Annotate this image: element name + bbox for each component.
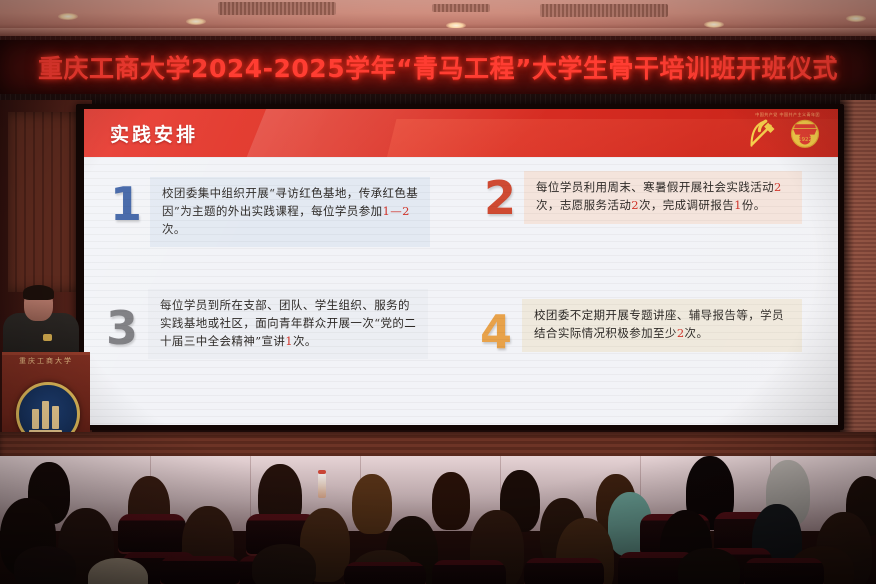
item-text-2: 每位学员利用周末、寒暑假开展社会实践活动2次，志愿服务活动2次，完成调研报告1份… (524, 171, 802, 224)
communist-youth-league-emblem-icon: 1922 (786, 114, 824, 152)
ceiling-light (704, 21, 724, 28)
right-wall-shadow (840, 100, 876, 460)
item-text-1: 校团委集中组织开展“寻访红色基地，传承红色基因”为主题的外出实践课程，每位学员参… (150, 177, 430, 247)
seat (524, 558, 604, 584)
audience-head (678, 548, 740, 584)
practice-item-1: 1 校团委集中组织开展“寻访红色基地，传承红色基因”为主题的外出实践课程，每位学… (110, 177, 430, 247)
ceiling-light (846, 15, 866, 22)
cpc-party-emblem-icon (742, 114, 780, 152)
seat (744, 558, 824, 584)
item-number-2: 2 (484, 175, 516, 221)
practice-item-4: 4 校团委不定期开展专题讲座、辅导报告等，学员结合实际情况积极参加至少2次。 (480, 299, 802, 355)
auditorium-scene: 重庆工商大学2024-2025学年“青马工程”大学生骨干培训班开班仪式 实践安排… (0, 0, 876, 584)
audience-head (14, 546, 76, 584)
slide-title: 实践安排 (110, 120, 198, 147)
seat (344, 562, 426, 584)
item-text-3: 每位学员到所在支部、团队、学生组织、服务的实践基地或社区，面向青年群众开展一次“… (148, 289, 428, 359)
item-number-4: 4 (480, 309, 512, 355)
audience-head (432, 472, 470, 530)
ceiling-vent (218, 2, 336, 15)
item-number-3: 3 (106, 305, 138, 351)
practice-item-2: 2 每位学员利用周末、寒暑假开展社会实践活动2次，志愿服务活动2次，完成调研报告… (484, 171, 802, 224)
ceiling-vent (540, 4, 668, 17)
ceiling-light (58, 13, 78, 20)
practice-item-3: 3 每位学员到所在支部、团队、学生组织、服务的实践基地或社区，面向青年群众开展一… (106, 289, 428, 359)
slide-emblems: 1922 (742, 114, 824, 152)
banner-title: 重庆工商大学2024-2025学年“青马工程”大学生骨干培训班开班仪式 (0, 40, 876, 94)
presentation-slide: 实践安排 中国共产党 中国共产主义青年团 1922 (84, 109, 838, 425)
ceiling-vent (432, 4, 490, 12)
item-number-1: 1 (110, 181, 142, 227)
podium-name-plate: 重庆工商大学 (8, 356, 84, 366)
audience (0, 452, 876, 584)
ceiling-light (186, 18, 206, 25)
svg-text:1922: 1922 (798, 137, 812, 143)
item-text-4: 校团委不定期开展专题讲座、辅导报告等，学员结合实际情况积极参加至少2次。 (522, 299, 802, 352)
seat (160, 556, 240, 584)
stage-door (8, 112, 86, 292)
audience-head (352, 474, 392, 534)
seat (118, 514, 186, 554)
seat (432, 560, 506, 584)
speaker-badge (43, 334, 52, 341)
speaker-hair (23, 285, 54, 300)
audience-head (252, 544, 316, 584)
